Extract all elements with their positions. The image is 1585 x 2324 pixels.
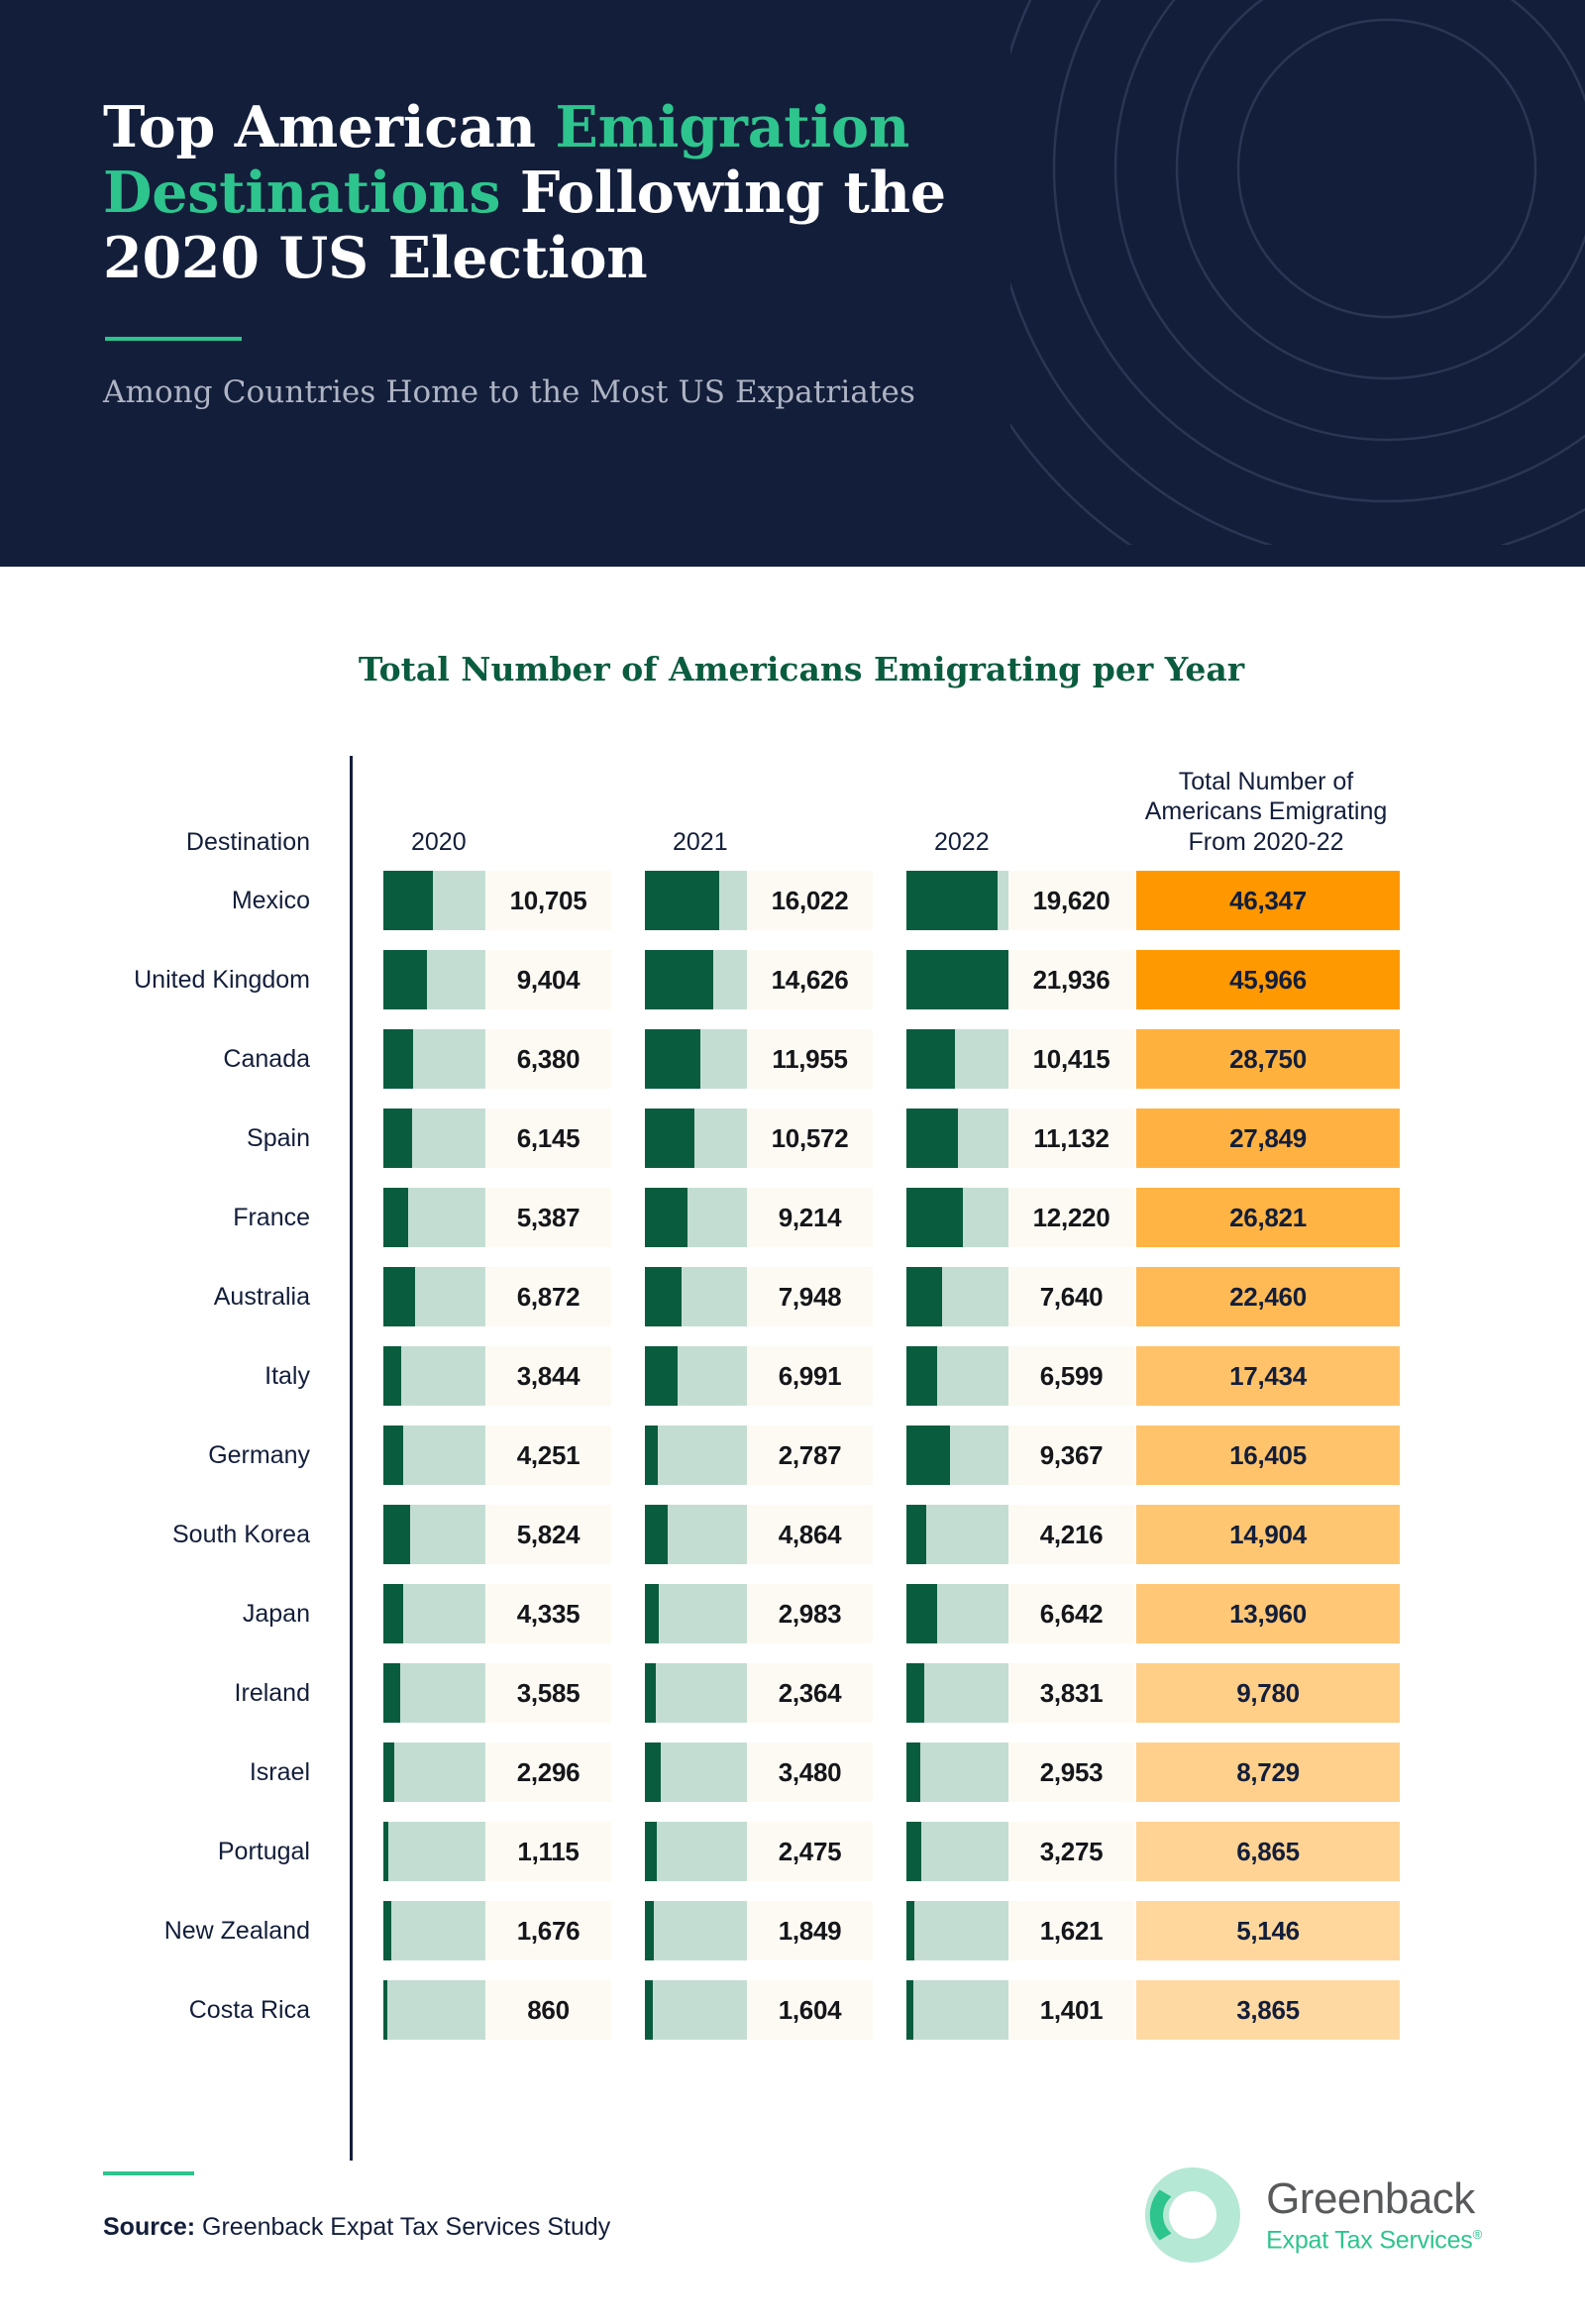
bar-fill [383,1980,387,2040]
bar-cell-2022: 6,642 [873,1584,1134,1643]
total-cell: 28,750 [1136,1029,1400,1089]
row-label-country: Canada [0,1045,350,1074]
bar-value-label: 10,572 [747,1109,873,1168]
row-label-country: Germany [0,1441,350,1470]
bar-fill [906,871,998,930]
bar-track [645,1505,747,1564]
bar-value-label: 5,387 [485,1188,611,1247]
total-cell: 17,434 [1136,1346,1400,1406]
bar-cell-2021: 9,214 [611,1188,873,1247]
brand-logo: Greenback Expat Tax Services® [1141,2164,1482,2267]
bar-value-label: 2,364 [747,1663,873,1723]
bar-value-label: 1,621 [1008,1901,1134,1960]
bar-track [383,950,485,1009]
bar-track [645,871,747,930]
bar-track [645,1822,747,1881]
bar-cell-2021: 7,948 [611,1267,873,1326]
bar-value-label: 9,214 [747,1188,873,1247]
total-value-label: 13,960 [1229,1599,1307,1630]
bar-value-label: 21,936 [1008,950,1134,1009]
bar-cell-2022: 11,132 [873,1109,1134,1168]
bar-track [645,1426,747,1485]
bar-cell-2021: 6,991 [611,1346,873,1406]
bar-value-label: 2,787 [747,1426,873,1485]
table-row: United Kingdom9,40414,62621,93645,966 [0,940,1585,1019]
bar-cell-2021: 4,864 [611,1505,873,1564]
table-row: Ireland3,5852,3643,8319,780 [0,1653,1585,1733]
bar-value-label: 12,220 [1008,1188,1134,1247]
total-header-line-1: Total Number of [1134,767,1398,797]
row-label-country: Ireland [0,1679,350,1708]
bar-value-label: 860 [485,1980,611,2040]
bar-value-label: 6,642 [1008,1584,1134,1643]
bar-track [645,1901,747,1960]
bar-track [383,1822,485,1881]
logo-name: Greenback [1266,2177,1482,2221]
row-label-country: Israel [0,1758,350,1787]
bar-cell-2020: 5,824 [350,1505,611,1564]
column-header-total: Total Number of Americans Emigrating Fro… [1134,767,1398,862]
bar-track [383,1346,485,1406]
bar-fill [383,1822,388,1881]
title-line-3: 2020 US Election [103,226,1173,291]
bar-cell-2022: 9,367 [873,1426,1134,1485]
bar-value-label: 9,404 [485,950,611,1009]
total-value-label: 14,904 [1229,1520,1307,1550]
bar-fill [645,1663,656,1723]
chart-container: Total Number of Americans Emigrating per… [0,650,1585,2050]
column-header-destination: Destination [0,827,350,862]
bar-track [383,1109,485,1168]
bar-track [645,1663,747,1723]
row-label-country: Australia [0,1283,350,1312]
bar-value-label: 16,022 [747,871,873,930]
bar-cell-2021: 16,022 [611,871,873,930]
column-header-2020: 2020 [350,827,611,862]
bar-value-label: 2,983 [747,1584,873,1643]
bar-value-label: 4,251 [485,1426,611,1485]
bar-fill [906,1743,920,1802]
bar-track [383,1743,485,1802]
bar-cell-2020: 3,844 [350,1346,611,1406]
total-value-label: 45,966 [1229,965,1307,996]
bar-cell-2021: 2,787 [611,1426,873,1485]
bar-track [906,1663,1008,1723]
bar-cell-2020: 6,145 [350,1109,611,1168]
total-value-label: 6,865 [1236,1837,1300,1867]
bar-track [906,1029,1008,1089]
bar-cell-2022: 21,936 [873,950,1134,1009]
bar-value-label: 10,415 [1008,1029,1134,1089]
bar-fill [383,1029,413,1089]
total-value-label: 9,780 [1236,1678,1300,1709]
bar-value-label: 2,953 [1008,1743,1134,1802]
bar-cell-2020: 6,872 [350,1267,611,1326]
page-subtitle: Among Countries Home to the Most US Expa… [103,374,1585,410]
bar-value-label: 7,640 [1008,1267,1134,1326]
bar-track [383,1267,485,1326]
bar-cell-2021: 11,955 [611,1029,873,1089]
bar-fill [645,1822,657,1881]
bar-cell-2021: 2,364 [611,1663,873,1723]
bar-cell-2020: 6,380 [350,1029,611,1089]
total-value-label: 16,405 [1229,1440,1307,1471]
bar-cell-2020: 860 [350,1980,611,2040]
bar-value-label: 9,367 [1008,1426,1134,1485]
total-header-line-3: From 2020-22 [1134,827,1398,858]
bar-track [906,1109,1008,1168]
total-cell: 9,780 [1136,1663,1400,1723]
table-row: South Korea5,8244,8644,21614,904 [0,1495,1585,1574]
table-row: Israel2,2963,4802,9538,729 [0,1733,1585,1812]
bar-value-label: 6,380 [485,1029,611,1089]
row-label-country: Japan [0,1600,350,1629]
bar-cell-2022: 12,220 [873,1188,1134,1247]
title-accent-emigration: Emigration [555,94,909,160]
bar-value-label: 1,676 [485,1901,611,1960]
total-cell: 5,146 [1136,1901,1400,1960]
bar-fill [645,950,713,1009]
table-row: Italy3,8446,9916,59917,434 [0,1336,1585,1416]
bar-track [906,1584,1008,1643]
bar-track [383,1980,485,2040]
bar-fill [906,1584,937,1643]
bar-track [645,1188,747,1247]
total-cell: 3,865 [1136,1980,1400,2040]
bar-cell-2022: 3,275 [873,1822,1134,1881]
title-line-2: Destinations Following the [103,160,1173,226]
bar-track [645,1743,747,1802]
bar-cell-2020: 2,296 [350,1743,611,1802]
bar-fill [645,1188,687,1247]
bar-value-label: 3,480 [747,1743,873,1802]
bar-value-label: 3,585 [485,1663,611,1723]
data-table: Destination 2020 2021 2022 Total Number … [0,750,1585,2050]
bar-track [383,1663,485,1723]
bar-track [645,1346,747,1406]
bar-cell-2020: 9,404 [350,950,611,1009]
source-text: Greenback Expat Tax Services Study [195,2213,610,2241]
logo-registered-mark: ® [1473,2227,1482,2242]
total-cell: 14,904 [1136,1505,1400,1564]
bar-fill [383,1346,401,1406]
bar-track [906,1743,1008,1802]
bar-fill [383,1663,400,1723]
row-label-country: Portugal [0,1838,350,1866]
column-header-2022: 2022 [873,827,1134,862]
total-cell: 16,405 [1136,1426,1400,1485]
total-value-label: 27,849 [1229,1123,1307,1154]
bar-value-label: 3,831 [1008,1663,1134,1723]
title-line-1: Top American Emigration [103,95,1173,160]
bar-cell-2022: 4,216 [873,1505,1134,1564]
bar-fill [906,1188,963,1247]
bar-track [645,1584,747,1643]
bar-cell-2021: 3,480 [611,1743,873,1802]
bar-value-label: 6,599 [1008,1346,1134,1406]
row-label-country: United Kingdom [0,966,350,995]
table-header-row: Destination 2020 2021 2022 Total Number … [0,750,1585,861]
bar-fill [645,1743,661,1802]
bar-cell-2021: 1,604 [611,1980,873,2040]
bar-value-label: 1,849 [747,1901,873,1960]
bar-track [906,950,1008,1009]
row-label-country: New Zealand [0,1917,350,1946]
bar-value-label: 1,115 [485,1822,611,1881]
bar-value-label: 11,132 [1008,1109,1134,1168]
table-row: Germany4,2512,7879,36716,405 [0,1416,1585,1495]
bar-track [906,1901,1008,1960]
bar-track [645,1029,747,1089]
source-note: Source: Greenback Expat Tax Services Stu… [103,2213,610,2242]
bar-track [383,1029,485,1089]
bar-fill [645,1346,678,1406]
page-header: Top American Emigration Destinations Fol… [0,0,1585,567]
table-row: Portugal1,1152,4753,2756,865 [0,1812,1585,1891]
bar-fill [906,950,1008,1009]
greenback-ring-icon [1141,2164,1244,2267]
bar-fill [645,1267,682,1326]
total-header-line-2: Americans Emigrating [1134,796,1398,827]
bar-value-label: 6,872 [485,1267,611,1326]
bar-track [906,1267,1008,1326]
bar-fill [645,1980,653,2040]
row-label-country: France [0,1204,350,1232]
bar-fill [906,1822,921,1881]
bar-fill [645,1505,668,1564]
bar-fill [383,1505,410,1564]
title-text-2: Following the [500,159,946,226]
source-label: Source: [103,2213,195,2241]
bar-track [383,1901,485,1960]
bar-fill [645,1426,658,1485]
table-body: Mexico10,70516,02219,62046,347United Kin… [0,861,1585,2050]
bar-track [383,1584,485,1643]
bar-track [906,1980,1008,2040]
bar-cell-2020: 5,387 [350,1188,611,1247]
row-label-country: Spain [0,1124,350,1153]
bar-fill [383,871,433,930]
bar-value-label: 5,824 [485,1505,611,1564]
bar-cell-2021: 2,983 [611,1584,873,1643]
row-label-country: Mexico [0,887,350,915]
total-cell: 6,865 [1136,1822,1400,1881]
total-cell: 26,821 [1136,1188,1400,1247]
total-value-label: 28,750 [1229,1044,1307,1075]
row-label-country: Italy [0,1362,350,1391]
bar-track [906,871,1008,930]
bar-cell-2022: 6,599 [873,1346,1134,1406]
bar-track [383,1426,485,1485]
table-row: Mexico10,70516,02219,62046,347 [0,861,1585,940]
bar-fill [906,1663,924,1723]
bar-value-label: 4,216 [1008,1505,1134,1564]
bar-cell-2020: 4,335 [350,1584,611,1643]
footer-divider [103,2171,194,2175]
page-title: Top American Emigration Destinations Fol… [103,95,1173,291]
bar-track [906,1188,1008,1247]
total-value-label: 46,347 [1229,886,1307,916]
total-cell: 8,729 [1136,1743,1400,1802]
total-value-label: 3,865 [1236,1995,1300,2026]
bar-fill [383,950,427,1009]
bar-fill [906,1980,913,2040]
bar-cell-2020: 10,705 [350,871,611,930]
bar-track [906,1346,1008,1406]
bar-cell-2021: 2,475 [611,1822,873,1881]
bar-cell-2022: 1,401 [873,1980,1134,2040]
bar-track [645,1980,747,2040]
bar-value-label: 11,955 [747,1029,873,1089]
bar-cell-2020: 1,676 [350,1901,611,1960]
page-footer: Source: Greenback Expat Tax Services Stu… [0,2140,1585,2324]
bar-fill [906,1346,937,1406]
bar-cell-2022: 19,620 [873,871,1134,930]
bar-track [645,950,747,1009]
bar-fill [645,1584,659,1643]
bar-value-label: 4,335 [485,1584,611,1643]
bar-cell-2022: 3,831 [873,1663,1134,1723]
bar-track [645,1267,747,1326]
bar-fill [906,1029,955,1089]
bar-cell-2021: 14,626 [611,950,873,1009]
bar-cell-2020: 1,115 [350,1822,611,1881]
bar-track [383,871,485,930]
table-row: New Zealand1,6761,8491,6215,146 [0,1891,1585,1970]
row-label-country: South Korea [0,1521,350,1549]
bar-value-label: 1,401 [1008,1980,1134,2040]
bar-fill [383,1267,415,1326]
bar-value-label: 6,991 [747,1346,873,1406]
table-row: Spain6,14510,57211,13227,849 [0,1099,1585,1178]
total-value-label: 5,146 [1236,1916,1300,1947]
bar-value-label: 3,844 [485,1346,611,1406]
bar-fill [383,1743,394,1802]
bar-fill [906,1426,950,1485]
title-accent-destinations: Destinations [103,159,500,226]
total-cell: 13,960 [1136,1584,1400,1643]
bar-cell-2022: 7,640 [873,1267,1134,1326]
header-divider [105,337,242,341]
logo-wordmark: Greenback Expat Tax Services® [1266,2177,1482,2253]
bar-fill [383,1188,408,1247]
bar-fill [906,1267,942,1326]
bar-track [383,1505,485,1564]
bar-value-label: 2,475 [747,1822,873,1881]
bar-fill [906,1901,914,1960]
bar-fill [645,871,719,930]
bar-value-label: 2,296 [485,1743,611,1802]
table-row: Costa Rica8601,6041,4013,865 [0,1970,1585,2050]
bar-cell-2020: 4,251 [350,1426,611,1485]
bar-track [645,1109,747,1168]
table-row: Canada6,38011,95510,41528,750 [0,1019,1585,1099]
bar-value-label: 10,705 [485,871,611,930]
bar-cell-2020: 3,585 [350,1663,611,1723]
bar-value-label: 1,604 [747,1980,873,2040]
total-value-label: 22,460 [1229,1282,1307,1313]
bar-value-label: 19,620 [1008,871,1134,930]
total-value-label: 8,729 [1236,1757,1300,1788]
bar-value-label: 14,626 [747,950,873,1009]
total-cell: 45,966 [1136,950,1400,1009]
logo-tagline-text: Expat Tax Services [1266,2226,1473,2254]
bar-value-label: 4,864 [747,1505,873,1564]
bar-fill [645,1109,694,1168]
bar-cell-2021: 10,572 [611,1109,873,1168]
bar-value-label: 6,145 [485,1109,611,1168]
bar-value-label: 3,275 [1008,1822,1134,1881]
bar-fill [645,1029,700,1089]
bar-cell-2021: 1,849 [611,1901,873,1960]
chart-title: Total Number of Americans Emigrating per… [0,650,1585,688]
total-cell: 46,347 [1136,871,1400,930]
bar-track [383,1188,485,1247]
bar-fill [383,1109,412,1168]
table-row: Japan4,3352,9836,64213,960 [0,1574,1585,1653]
bar-cell-2022: 2,953 [873,1743,1134,1802]
bar-track [906,1505,1008,1564]
bar-fill [906,1109,958,1168]
bar-fill [383,1901,391,1960]
title-text-1: Top American [103,94,555,160]
bar-fill [383,1426,403,1485]
column-header-2021: 2021 [611,827,873,862]
table-row: France5,3879,21412,22026,821 [0,1178,1585,1257]
logo-tagline: Expat Tax Services® [1266,2228,1482,2253]
bar-cell-2022: 10,415 [873,1029,1134,1089]
total-cell: 22,460 [1136,1267,1400,1326]
bar-fill [383,1584,403,1643]
total-value-label: 26,821 [1229,1203,1307,1233]
table-row: Australia6,8727,9487,64022,460 [0,1257,1585,1336]
total-cell: 27,849 [1136,1109,1400,1168]
row-label-country: Costa Rica [0,1996,350,2025]
bar-fill [906,1505,926,1564]
total-value-label: 17,434 [1229,1361,1307,1392]
bar-track [906,1822,1008,1881]
bar-fill [645,1901,654,1960]
bar-track [906,1426,1008,1485]
bar-value-label: 7,948 [747,1267,873,1326]
bar-cell-2022: 1,621 [873,1901,1134,1960]
